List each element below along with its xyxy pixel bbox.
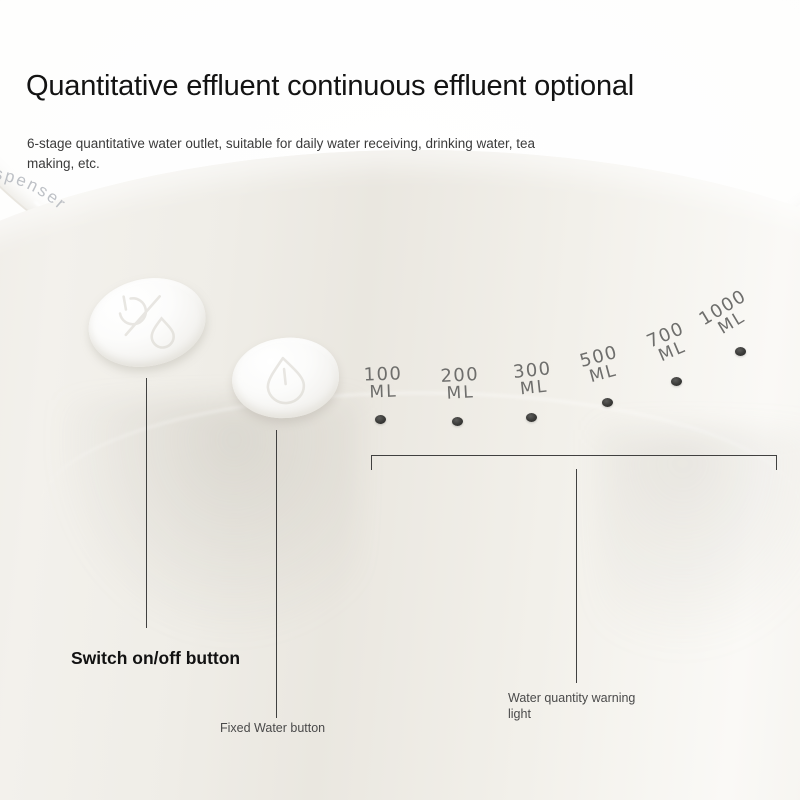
indicator-dot-500: [602, 398, 613, 407]
fixed-water-button[interactable]: [228, 333, 343, 424]
product-photo: spenser: [0, 0, 800, 800]
warning-light-bracket: [371, 455, 777, 470]
indicator-dot-100: [375, 415, 386, 424]
page-subtitle: 6-stage quantitative water outlet, suita…: [27, 134, 547, 173]
annotation-switch-label: Switch on/off button: [71, 648, 240, 669]
product-feature-image: spenser: [0, 0, 800, 800]
indicator-dot-300: [526, 413, 537, 422]
indicator-dot-700: [671, 377, 682, 386]
indicator-dot-200: [452, 417, 463, 426]
annotation-fixed-water-label: Fixed Water button: [220, 721, 325, 735]
volume-unit-100: ML: [364, 384, 403, 403]
volume-unit-200: ML: [441, 384, 480, 403]
leader-line-switch: [146, 378, 147, 628]
body-edge-highlight: [40, 392, 800, 634]
volume-marking-200: 200 ML: [440, 366, 480, 404]
annotation-warning-light-label: Water quantity warning light: [508, 690, 648, 722]
volume-unit-300: ML: [514, 378, 554, 399]
leader-line-fixed-water: [276, 430, 277, 718]
volume-marking-100: 100 ML: [363, 365, 403, 402]
water-drop-icon: [228, 333, 343, 424]
page-title: Quantitative effluent continuous effluen…: [26, 70, 634, 103]
indicator-dot-1000: [735, 347, 746, 356]
leader-line-warning-light: [576, 469, 577, 683]
volume-marking-300: 300 ML: [512, 360, 554, 400]
